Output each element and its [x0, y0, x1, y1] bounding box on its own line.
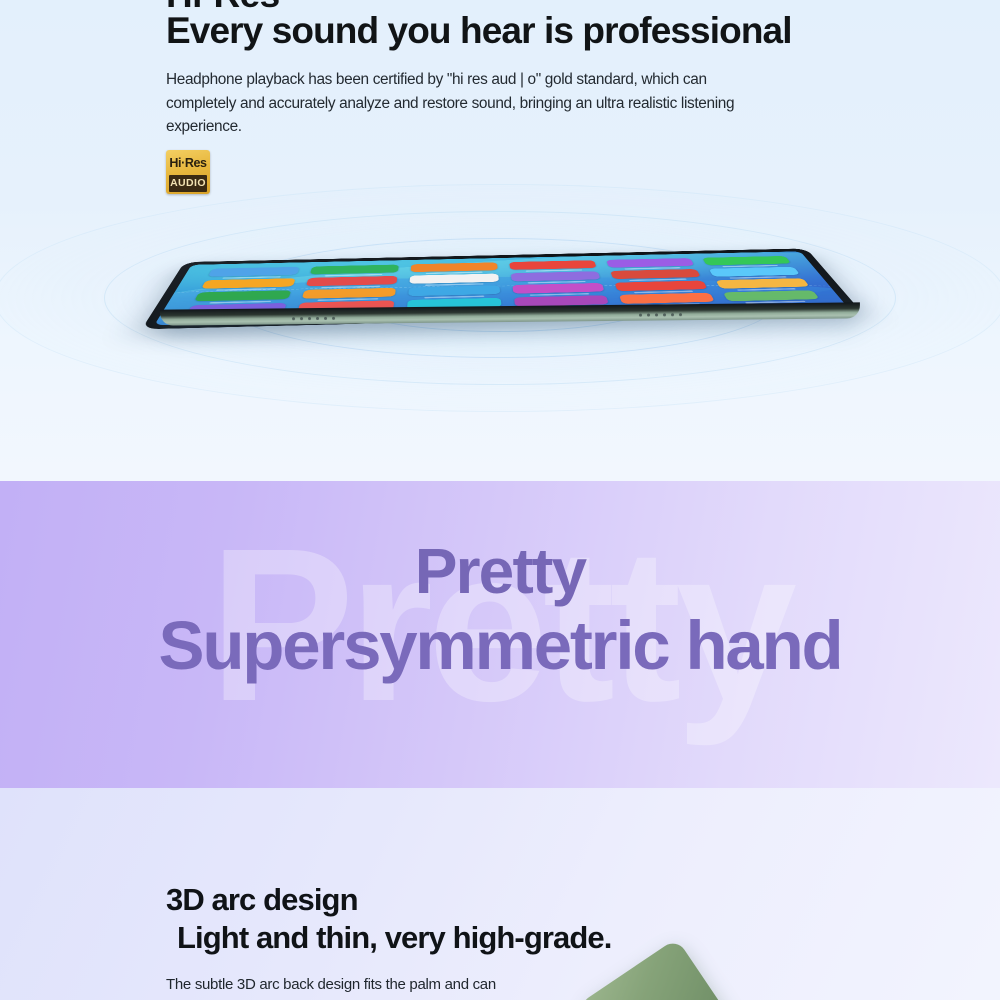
app-icon	[208, 267, 300, 277]
hi-res-audio-badge: Hi·Res AUDIO	[166, 150, 210, 194]
app-icon	[509, 260, 596, 270]
app-icon	[201, 278, 296, 288]
app-icon	[411, 262, 498, 272]
app-icon	[716, 278, 810, 288]
arc-heading-line-1: 3D arc design	[166, 882, 358, 918]
app-icon	[302, 288, 396, 299]
tablet-device-image	[0, 160, 1000, 375]
section-3d-arc-design: 3D arc design Light and thin, very high-…	[0, 788, 1000, 1000]
pretty-headline-line-1: Pretty	[0, 539, 1000, 603]
audio-main-heading: Every sound you hear is professional	[166, 10, 792, 52]
app-icon	[702, 256, 791, 265]
app-icon	[709, 267, 801, 277]
app-icon	[310, 265, 399, 275]
product-detail-page: Hi-Res Every sound you hear is professio…	[0, 0, 1000, 1000]
audio-body-text: Headphone playback has been certified by…	[166, 68, 776, 139]
speaker-grille-right	[639, 313, 682, 316]
app-icon	[512, 283, 604, 294]
arc-heading-line-2: Light and thin, very high-grade.	[177, 920, 612, 956]
app-icon	[511, 271, 601, 281]
pretty-headline-line-2: Supersymmetric hand	[0, 611, 1000, 680]
hi-res-badge-bottom-label: AUDIO	[169, 175, 207, 192]
app-icon	[306, 276, 398, 286]
app-icon	[194, 290, 291, 301]
section-hi-res-audio: Hi-Res Every sound you hear is professio…	[0, 0, 1000, 481]
app-icon	[409, 274, 499, 284]
section-pretty-design: Pretty Pretty Supersymmetric hand	[0, 481, 1000, 788]
app-icon	[610, 269, 701, 279]
app-icon	[408, 285, 500, 296]
app-icon	[606, 258, 694, 268]
arc-body-text: The subtle 3D arc back design fits the p…	[166, 973, 636, 996]
hi-res-badge-top-label: Hi·Res	[169, 157, 206, 170]
app-icon	[614, 281, 707, 292]
speaker-grille-left	[292, 317, 335, 320]
